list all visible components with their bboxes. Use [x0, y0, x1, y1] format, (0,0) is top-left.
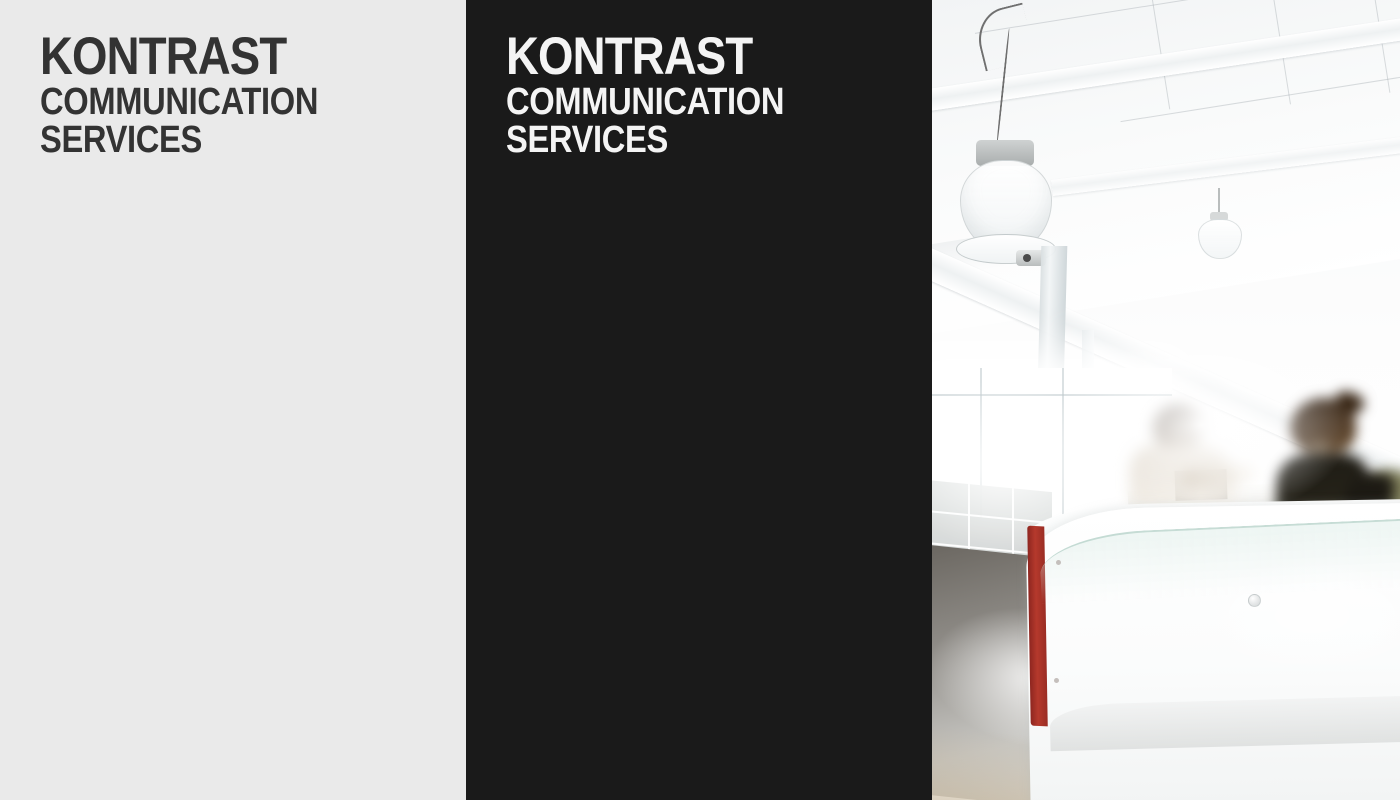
lamp-dome — [1198, 219, 1242, 259]
logo-lockup-dark-ink: KONTRAST COMMUNICATION SERVICES — [40, 31, 363, 159]
pendant-lamp-small — [1190, 188, 1250, 298]
logo-wordmark: KONTRAST — [40, 31, 318, 83]
desk-fixing-screw — [1054, 678, 1059, 683]
lamp-cable — [1218, 188, 1220, 214]
logo-descriptor-line-1: COMMUNICATION — [506, 84, 784, 121]
ceiling-seam-vertical — [1366, 0, 1390, 93]
logo-descriptor-line-1: COMMUNICATION — [40, 84, 318, 121]
desk-red-accent-panel — [1027, 526, 1048, 727]
panel-logo-light-background: KONTRAST COMMUNICATION SERVICES — [0, 0, 466, 800]
panel-logo-photo-background: KONTRAST COMMUNICATION SERVICES — [932, 0, 1400, 800]
logo-lockup-light-ink: KONTRAST COMMUNICATION SERVICES — [506, 31, 829, 159]
highlight-bloom — [1052, 330, 1352, 520]
logo-descriptor-line-2: SERVICES — [40, 122, 318, 159]
office-interior-photograph — [932, 0, 1400, 800]
brand-identity-board: KONTRAST COMMUNICATION SERVICES KONTRAST… — [0, 0, 1400, 800]
logo-wordmark: KONTRAST — [506, 31, 784, 83]
panel-logo-dark-background: KONTRAST COMMUNICATION SERVICES — [466, 0, 932, 800]
desk-surface-glare — [1182, 556, 1400, 676]
logo-descriptor-line-2: SERVICES — [506, 122, 784, 159]
desk-fixing-screw — [1056, 560, 1061, 565]
